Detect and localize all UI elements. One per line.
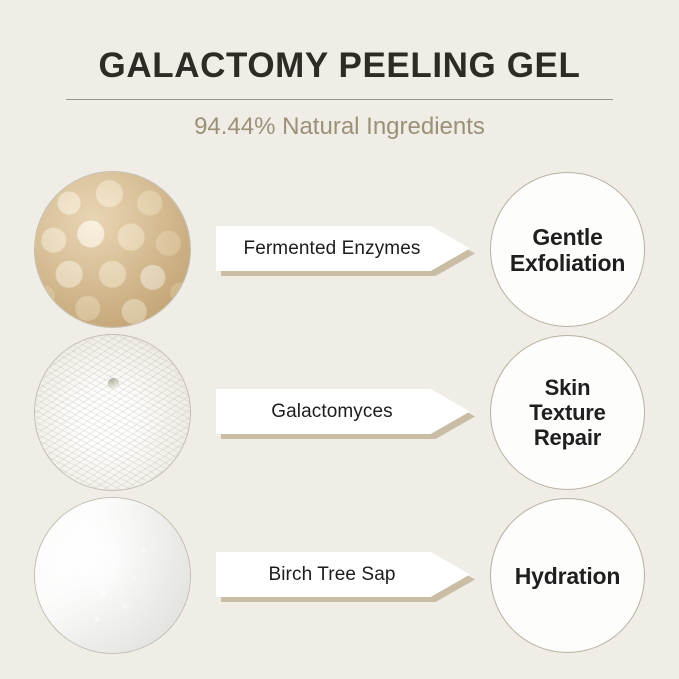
fermented-rice-image	[35, 335, 190, 490]
ingredient-row: Birch Tree Sap Hydration	[0, 496, 679, 656]
page-title: GALACTOMY PEELING GEL	[0, 45, 679, 87]
birch-sap-gel-image	[35, 498, 190, 653]
banner-arrow: Galactomyces	[216, 389, 470, 434]
birch-sap-gel-photo	[35, 498, 190, 653]
benefit-circle: Skin Texture Repair	[490, 335, 645, 490]
ingredient-banner: Fermented Enzymes	[216, 226, 474, 273]
fermented-rice-photo	[35, 335, 190, 490]
benefit-circle: Gentle Exfoliation	[490, 172, 645, 327]
soybeans-image	[35, 172, 190, 327]
soybeans-photo	[35, 172, 190, 327]
banner-arrow: Birch Tree Sap	[216, 552, 470, 597]
infographic-page: GALACTOMY PEELING GEL 94.44% Natural Ing…	[0, 0, 679, 679]
ingredient-banner: Birch Tree Sap	[216, 552, 474, 599]
header: GALACTOMY PEELING GEL 94.44% Natural Ing…	[0, 0, 679, 160]
page-subtitle: 94.44% Natural Ingredients	[0, 110, 679, 144]
ingredient-row: Fermented Enzymes Gentle Exfoliation	[0, 170, 679, 330]
ingredient-banner: Galactomyces	[216, 389, 474, 436]
ingredient-row: Galactomyces Skin Texture Repair	[0, 333, 679, 493]
benefit-circle: Hydration	[490, 498, 645, 653]
ingredient-label: Galactomyces	[271, 401, 415, 423]
ingredient-label: Birch Tree Sap	[268, 564, 417, 586]
title-divider	[66, 99, 613, 100]
banner-arrow: Fermented Enzymes	[216, 226, 470, 271]
benefit-label: Skin Texture Repair	[523, 375, 611, 450]
benefit-label: Hydration	[509, 563, 627, 589]
benefit-label: Gentle Exfoliation	[504, 224, 631, 276]
ingredient-label: Fermented Enzymes	[244, 238, 443, 260]
